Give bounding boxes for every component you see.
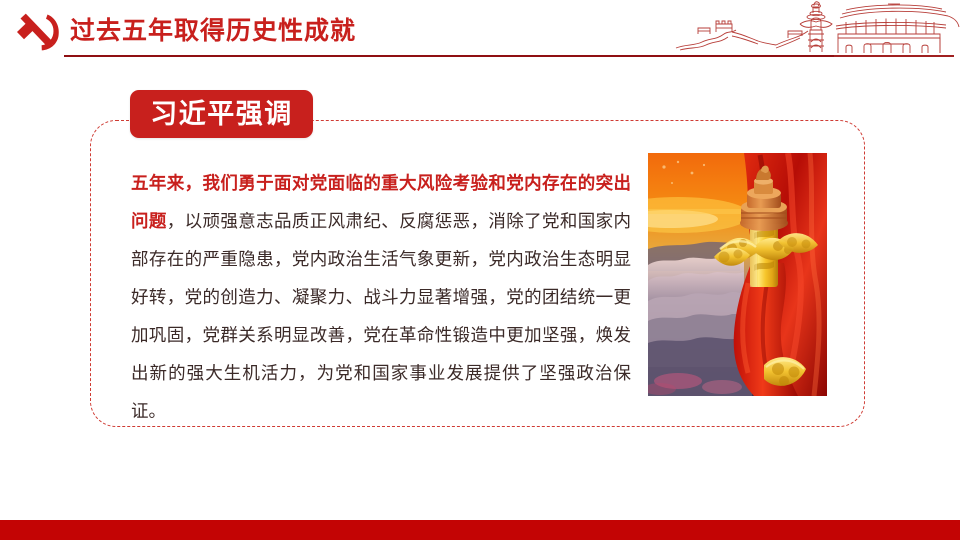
- status-badge: 习近平强调: [130, 90, 313, 138]
- body-paragraph: 五年来，我们勇于面对党面临的重大风险考验和党内存在的突出问题，以顽强意志品质正风…: [131, 164, 631, 430]
- page-title: 过去五年取得历史性成就: [70, 14, 356, 48]
- badge-label: 习近平强调: [150, 90, 293, 138]
- body-rest-text: ，以顽强意志品质正风肃纪、反腐惩恶，消除了党和国家内部存在的严重隐患，党内政治生…: [131, 211, 631, 421]
- footer-red-bar: [0, 520, 960, 540]
- tiananmen-greatwall-huabiao-lineart-icon: [670, 0, 960, 60]
- ccp-hammer-sickle-emblem-icon: [14, 10, 66, 55]
- slide-canvas: 过去五年取得历史性成就: [0, 0, 960, 540]
- huabiao-column-photo: [648, 153, 827, 396]
- slide-header: 过去五年取得历史性成就: [0, 0, 960, 70]
